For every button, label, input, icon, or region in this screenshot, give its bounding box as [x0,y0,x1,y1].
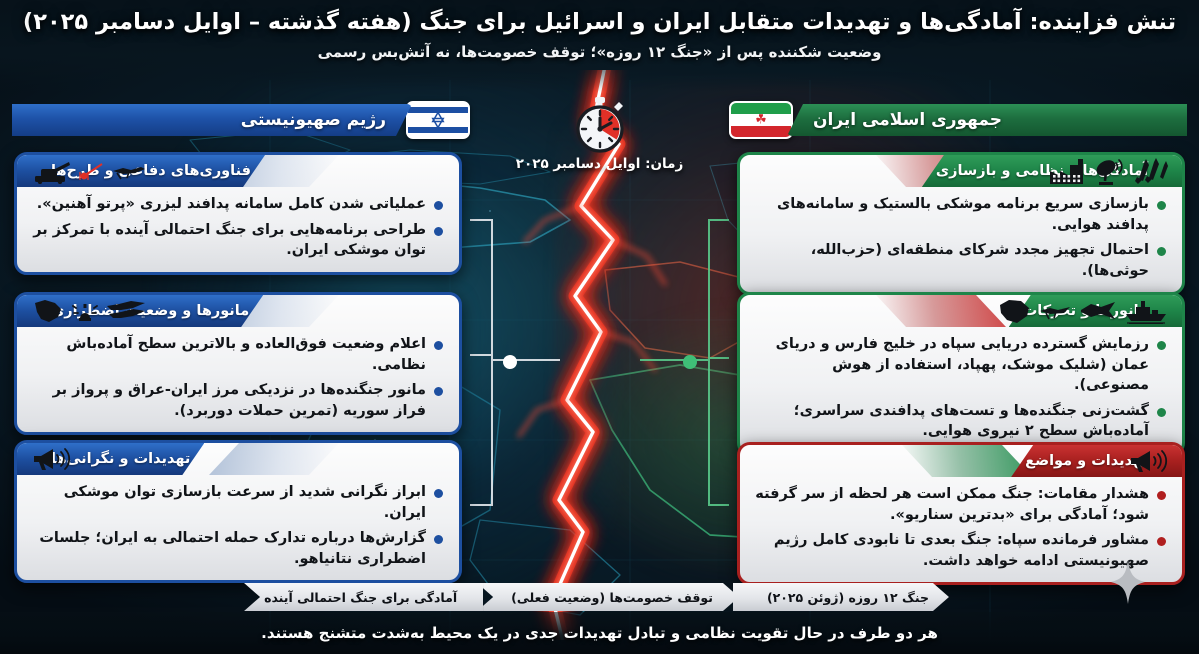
air-defense-gun-icon [31,158,71,184]
bullet-dot [434,341,443,350]
card-header: تهدیدات و نگرانی‌ها [17,443,459,475]
bullet-text: رزمایش گسترده دریایی سپاه در خلیج فارس و… [754,334,1149,396]
card-icons [1048,156,1168,186]
fighter-jet-icon [105,298,147,324]
bullet-item: بازسازی سریع برنامه موشکی بالستیک و ساما… [754,194,1166,235]
card-body: رزمایش گسترده دریایی سپاه در خلیج فارس و… [740,327,1182,453]
card-icons [31,156,147,186]
bullet-item: اعلام وضعیت فوق‌العاده و بالاترین سطح آم… [31,334,443,375]
left-side-banner: رژیم صهیونیستی [12,101,470,139]
bullet-text: مشاور فرمانده سپاه: جنگ بعدی تا نابودی ک… [754,530,1149,571]
footer: هر دو طرف در حال تقویت نظامی و تبادل تهد… [0,612,1199,654]
bullet-item: مشاور فرمانده سپاه: جنگ بعدی تا نابودی ک… [754,530,1166,571]
card-icons [1128,446,1168,476]
megaphone-icon [31,446,71,472]
card-body: بازسازی سریع برنامه موشکی بالستیک و ساما… [740,187,1182,292]
laser-icon [78,160,104,182]
card-body: اعلام وضعیت فوق‌العاده و بالاترین سطح آم… [17,327,459,432]
bullet-dot [1157,247,1166,256]
drone-icon [111,159,147,183]
bullet-dot [1157,408,1166,417]
bullet-text: اعلام وضعیت فوق‌العاده و بالاترین سطح آم… [31,334,426,375]
bullet-text: هشدار مقامات: جنگ ممکن است هر لحظه از سر… [754,484,1149,525]
timeline: جنگ ۱۲ روزه (ژوئن ۲۰۲۵) توقف خصومت‌ها (و… [0,582,1199,612]
bullet-dot [434,489,443,498]
bullet-item: عملیاتی شدن کامل سامانه پدافند لیزری «پر… [31,194,443,215]
siren-icon [72,298,98,324]
bullet-dot [1157,537,1166,546]
header-accent-shape [209,443,339,475]
bullet-item: گشت‌زنی جنگنده‌ها و تست‌های پدافندی سراس… [754,401,1166,442]
warship-icon [1124,298,1168,324]
timeline-step-1[interactable]: جنگ ۱۲ روزه (ژوئن ۲۰۲۵) [733,583,949,611]
bullet-text: ابراز نگرانی شدید از سرعت بازسازی توان م… [31,482,426,523]
bullet-dot [434,201,443,210]
bullet-dot [434,227,443,236]
fighter-jet-icon [1079,299,1117,323]
iraq-map-icon [31,297,65,325]
right-side-banner-label: جمهوری اسلامی ایران [787,104,1187,136]
sparkle-icon [1109,558,1147,606]
drone-icon [1038,300,1072,322]
iran-map-icon [997,297,1031,325]
stopwatch-icon [571,96,629,154]
megaphone-icon [1128,448,1168,474]
card-icons [997,296,1168,326]
left-side-banner-label: رژیم صهیونیستی [12,104,412,136]
card-left-defense-tech[interactable]: فناوری‌های دفاعی و طرح‌ها عملیاتی شدن کا… [14,152,462,275]
timeline-step-3[interactable]: آمادگی برای جنگ احتمالی آینده [244,583,483,611]
timer-block: زمان: اوایل دسامبر ۲۰۲۵ [470,96,730,172]
bullet-text: بازسازی سریع برنامه موشکی بالستیک و ساما… [754,194,1149,235]
header-accent-shape [902,445,1032,477]
iran-emblem-icon: ☘ [755,113,767,128]
bullet-item: ابراز نگرانی شدید از سرعت بازسازی توان م… [31,482,443,523]
card-left-drills-emergency[interactable]: مانورها و وضعیت اضطراری اعلام وضعیت فوق‌… [14,292,462,435]
page-subtitle: وضعیت شکننده پس از «جنگ ۱۲ روزه»؛ توقف خ… [0,43,1199,61]
bullet-item: طراحی برنامه‌هایی برای جنگ احتمالی آینده… [31,220,443,261]
iran-flag-icon: ☘ [729,101,793,139]
card-header: مانورها و وضعیت اضطراری [17,295,459,327]
factory-icon [1048,157,1086,185]
card-header: آمادگی‌های نظامی و بازسازی [740,155,1182,187]
radar-dish-icon [1093,157,1125,185]
bullet-text: گزارش‌ها درباره تدارک حمله احتمالی به ای… [31,528,426,569]
missiles-icon [1132,157,1168,185]
israel-flag-icon [406,101,470,139]
timeline-step-2[interactable]: توقف خصومت‌ها (وضعیت فعلی) [477,583,739,611]
card-left-threats-concerns[interactable]: تهدیدات و نگرانی‌ها ابراز نگرانی شدید از… [14,440,462,583]
card-body: عملیاتی شدن کامل سامانه پدافند لیزری «پر… [17,187,459,272]
card-right-military-readiness[interactable]: آمادگی‌های نظامی و بازسازی بازسازی سریع … [737,152,1185,295]
bullet-text: گشت‌زنی جنگنده‌ها و تست‌های پدافندی سراس… [754,401,1149,442]
header: تنش فزاینده: آمادگی‌ها و تهدیدات متقابل … [0,0,1199,92]
card-header: فناوری‌های دفاعی و طرح‌ها [17,155,459,187]
bullet-dot [1157,341,1166,350]
right-side-banner: ☘ جمهوری اسلامی ایران [729,101,1187,139]
infographic-canvas: تنش فزاینده: آمادگی‌ها و تهدیدات متقابل … [0,0,1199,654]
bullet-item: احتمال تجهیز مجدد شرکای منطقه‌ای (حزب‌ال… [754,240,1166,281]
bullet-dot [1157,201,1166,210]
card-icons [31,296,147,326]
bullet-text: طراحی برنامه‌هایی برای جنگ احتمالی آینده… [31,220,426,261]
bullet-text: مانور جنگنده‌ها در نزدیکی مرز ایران-عراق… [31,380,426,421]
card-header: تهدیدات و مواضع [740,445,1182,477]
bullet-item: هشدار مقامات: جنگ ممکن است هر لحظه از سر… [754,484,1166,525]
bullet-text: احتمال تجهیز مجدد شرکای منطقه‌ای (حزب‌ال… [754,240,1149,281]
page-title: تنش فزاینده: آمادگی‌ها و تهدیدات متقابل … [0,8,1199,36]
bullet-dot [434,535,443,544]
bullet-item: گزارش‌ها درباره تدارک حمله احتمالی به ای… [31,528,443,569]
bullet-dot [1157,491,1166,500]
header-accent-shape [876,295,1006,327]
bullet-item: رزمایش گسترده دریایی سپاه در خلیج فارس و… [754,334,1166,396]
bullet-text: عملیاتی شدن کامل سامانه پدافند لیزری «پر… [31,194,426,215]
star-of-david-icon [429,111,447,129]
timer-label: زمان: اوایل دسامبر ۲۰۲۵ [470,156,730,172]
card-icons [31,444,71,474]
card-right-drills-movements[interactable]: مانورها و تحرکات رزمایش گسترده دریایی سپ… [737,292,1185,456]
card-header: مانورها و تحرکات [740,295,1182,327]
bullet-item: مانور جنگنده‌ها در نزدیکی مرز ایران-عراق… [31,380,443,421]
bullet-dot [434,387,443,396]
footer-text: هر دو طرف در حال تقویت نظامی و تبادل تهد… [261,624,938,642]
card-body: ابراز نگرانی شدید از سرعت بازسازی توان م… [17,475,459,580]
